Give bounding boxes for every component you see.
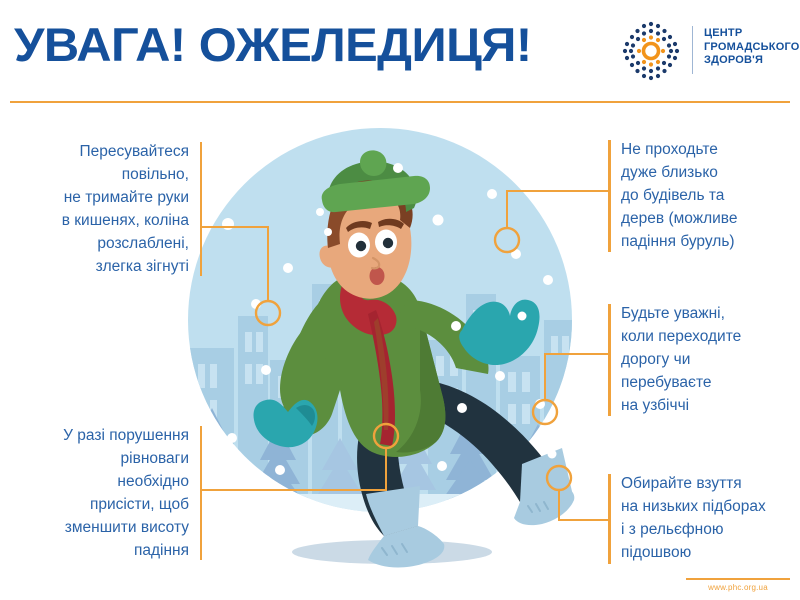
tip-buildings: Не проходьте дуже близько до будівель та… bbox=[608, 138, 794, 253]
tip-posture: Пересувайтеся повільно, не тримайте руки… bbox=[12, 140, 202, 278]
tip-balance: У разі порушення рівноваги необхідно при… bbox=[12, 424, 202, 562]
tip-balance-bar bbox=[200, 426, 203, 560]
tip-buildings-text: Не проходьте дуже близько до будівель та… bbox=[608, 138, 794, 253]
tip-road-bar bbox=[608, 304, 611, 416]
tip-road: Будьте уважні, коли переходите дорогу чи… bbox=[608, 302, 794, 417]
page-title: УВАГА! ОЖЕЛЕДИЦЯ! bbox=[14, 17, 532, 72]
logo: ЦЕНТР ГРОМАДСЬКОГО ЗДОРОВ'Я bbox=[620, 20, 790, 82]
tip-shoes-bar bbox=[608, 474, 611, 564]
tip-road-text: Будьте уважні, коли переходите дорогу чи… bbox=[608, 302, 794, 417]
logo-line-2: ГРОМАДСЬКОГО bbox=[704, 41, 800, 55]
tip-shoes: Обирайте взуття на низьких підборах і з … bbox=[608, 472, 794, 564]
illustration-slipping-man bbox=[170, 108, 590, 570]
header-divider bbox=[10, 101, 790, 103]
footer-divider bbox=[686, 578, 790, 580]
header: УВАГА! ОЖЕЛЕДИЦЯ! bbox=[0, 0, 800, 102]
tip-buildings-bar bbox=[608, 140, 611, 252]
footer-url[interactable]: www.phc.org.ua bbox=[686, 583, 790, 592]
tip-posture-text: Пересувайтеся повільно, не тримайте руки… bbox=[12, 140, 202, 278]
tip-balance-text: У разі порушення рівноваги необхідно при… bbox=[12, 424, 202, 562]
tip-shoes-text: Обирайте взуття на низьких підборах і з … bbox=[608, 472, 794, 564]
logo-line-1: ЦЕНТР bbox=[704, 27, 800, 41]
logo-text: ЦЕНТР ГРОМАДСЬКОГО ЗДОРОВ'Я bbox=[704, 27, 800, 68]
logo-divider bbox=[692, 26, 693, 74]
infographic-root: УВАГА! ОЖЕЛЕДИЦЯ! bbox=[0, 0, 800, 600]
tip-posture-bar bbox=[200, 142, 203, 276]
phc-logo-icon bbox=[620, 20, 682, 82]
logo-line-3: ЗДОРОВ'Я bbox=[704, 54, 800, 68]
